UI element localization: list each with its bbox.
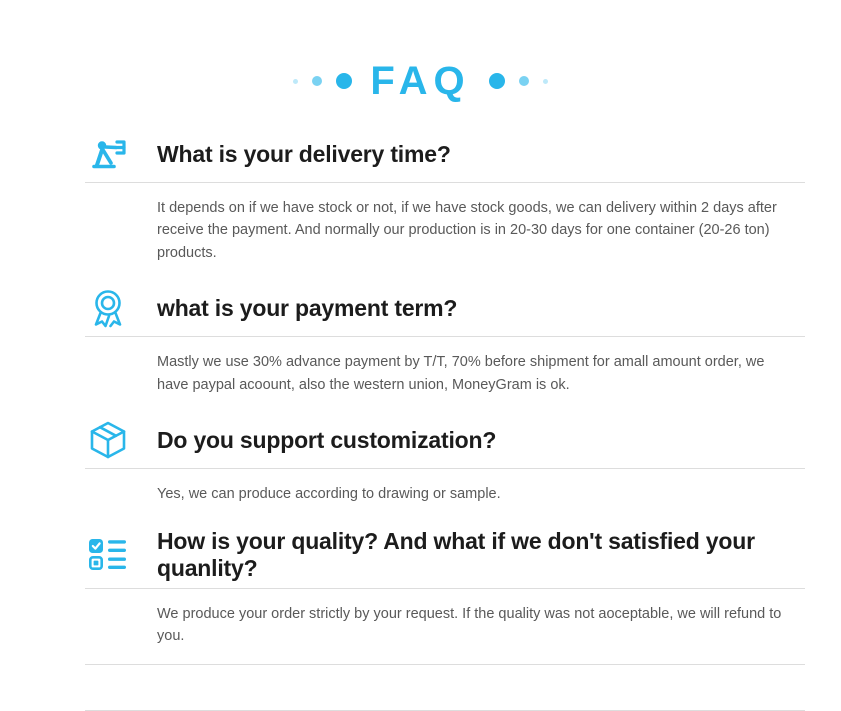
faq-question-text: How is your quality? And what if we don'… xyxy=(157,528,805,582)
faq-empty-row xyxy=(85,665,805,710)
faq-answer-row: Yes, we can produce according to drawing… xyxy=(85,469,805,521)
award-ribbon-icon xyxy=(85,285,131,331)
header-dots-left xyxy=(293,73,370,89)
faq-answer-text: Yes, we can produce according to drawing… xyxy=(157,483,519,505)
faq-question-text: Do you support customization? xyxy=(157,427,536,454)
faq-header: FAQ xyxy=(0,52,841,110)
faq-answer-text: Mastly we use 30% advance payment by T/T… xyxy=(157,351,805,396)
decorative-dot-icon xyxy=(336,73,352,89)
faq-divider xyxy=(85,710,805,711)
decorative-dot-icon xyxy=(312,76,322,86)
faq-answer-text: We produce your order strictly by your r… xyxy=(157,603,805,648)
faq-question-row[interactable]: what is your payment term? xyxy=(85,280,805,336)
faq-question-row[interactable]: What is your delivery time? xyxy=(85,126,805,182)
faq-answer-row: Mastly we use 30% advance payment by T/T… xyxy=(85,337,805,412)
faq-question-row[interactable]: Do you support customization? xyxy=(85,412,805,468)
faq-question-text: what is your payment term? xyxy=(157,295,497,322)
faq-answer-text: It depends on if we have stock or not, i… xyxy=(157,197,805,264)
decorative-dot-icon xyxy=(543,79,548,84)
faq-answer-row: It depends on if we have stock or not, i… xyxy=(85,183,805,280)
faq-list: What is your delivery time? It depends o… xyxy=(85,126,805,711)
header-dots-right xyxy=(471,73,548,89)
decorative-dot-icon xyxy=(519,76,529,86)
decorative-dot-icon xyxy=(489,73,505,89)
faq-question-row[interactable]: How is your quality? And what if we don'… xyxy=(85,522,805,588)
package-box-icon xyxy=(85,417,131,463)
decorative-dot-icon xyxy=(293,79,298,84)
checklist-icon xyxy=(85,532,131,578)
faq-answer-row: We produce your order strictly by your r… xyxy=(85,589,805,664)
page-title: FAQ xyxy=(370,61,470,101)
faq-question-text: What is your delivery time? xyxy=(157,141,491,168)
robot-arm-icon xyxy=(85,131,131,177)
